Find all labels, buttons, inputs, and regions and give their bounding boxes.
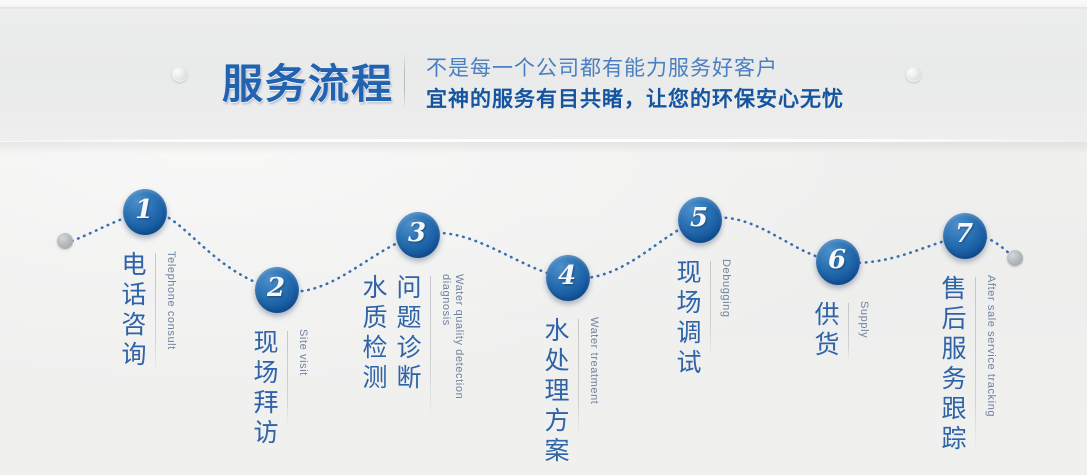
step-label-cn-1: 电话咨询 bbox=[117, 251, 147, 371]
label-divider-3 bbox=[430, 276, 431, 416]
path-end-dot bbox=[1007, 250, 1023, 266]
step-number-badge-7: 7 bbox=[943, 213, 987, 259]
step-label-1: 电话咨询 Telephone consult bbox=[117, 251, 177, 373]
step-label-6: 供货 Supply bbox=[810, 301, 870, 363]
step-label-5: 现场调试 Debugging bbox=[672, 259, 732, 379]
step-label-en-1: Telephone consult bbox=[164, 251, 177, 350]
step-label-en-2: Site visit bbox=[296, 329, 309, 376]
step-number-badge-5: 5 bbox=[678, 197, 722, 243]
screw-icon-left bbox=[172, 67, 187, 82]
path-start-dot bbox=[57, 233, 73, 249]
page-title: 服务流程 bbox=[222, 50, 394, 110]
subtitle-line-1: 不是每一个公司都有能力服务好客户 bbox=[426, 54, 946, 82]
step-number-3: 3 bbox=[408, 218, 426, 248]
title-divider bbox=[404, 52, 405, 110]
step-label-3: 问题诊断 水质检测 Water quality detection diagno… bbox=[358, 274, 465, 416]
label-divider-6 bbox=[848, 303, 849, 363]
step-label-cn-4: 水处理方案 bbox=[540, 317, 570, 467]
step-label-7: 售后服务跟踪 After sale service tracking bbox=[937, 275, 997, 455]
step-label-2: 现场拜访 Site visit bbox=[249, 329, 309, 449]
step-number-badge-2: 2 bbox=[255, 267, 299, 313]
step-label-cn-6: 供货 bbox=[810, 301, 840, 361]
subtitle-line-2: 宜神的服务有目共睹，让您的环保安心无忧 bbox=[426, 84, 946, 114]
page-background: 服务流程 不是每一个公司都有能力服务好客户 宜神的服务有目共睹，让您的环保安心无… bbox=[0, 0, 1087, 475]
step-label-cn-3a: 问题诊断 bbox=[392, 274, 422, 394]
step-label-cn-7: 售后服务跟踪 bbox=[937, 275, 967, 455]
label-divider-2 bbox=[287, 331, 288, 427]
step-number-badge-1: 1 bbox=[123, 189, 167, 235]
step-number-7: 7 bbox=[955, 219, 973, 249]
step-number-badge-3: 3 bbox=[396, 212, 440, 258]
service-flow-diagram: 1 电话咨询 Telephone consult 2 现场拜访 Site vis… bbox=[0, 150, 1087, 475]
step-label-en-3: Water quality detection diagnosis bbox=[439, 274, 465, 414]
step-number-4: 4 bbox=[558, 261, 576, 291]
step-number-5: 5 bbox=[690, 203, 708, 233]
label-divider-1 bbox=[155, 253, 156, 373]
step-label-en-4: Water treatment bbox=[587, 317, 600, 404]
step-label-cn-2: 现场拜访 bbox=[249, 329, 279, 449]
step-label-cn-3b: 水质检测 bbox=[358, 274, 388, 394]
step-label-en-6: Supply bbox=[857, 301, 870, 338]
label-divider-5 bbox=[710, 261, 711, 357]
step-number-badge-6: 6 bbox=[816, 239, 860, 285]
label-divider-7 bbox=[975, 277, 976, 452]
top-strip bbox=[0, 0, 1087, 8]
step-label-4: 水处理方案 Water treatment bbox=[540, 317, 600, 467]
step-label-en-7: After sale service tracking bbox=[984, 275, 997, 417]
step-label-cn-5: 现场调试 bbox=[672, 259, 702, 379]
step-number-1: 1 bbox=[135, 195, 153, 225]
header-subtitle: 不是每一个公司都有能力服务好客户 宜神的服务有目共睹，让您的环保安心无忧 bbox=[426, 54, 946, 114]
label-divider-4 bbox=[578, 319, 579, 439]
step-label-cn-group-3: 问题诊断 水质检测 bbox=[358, 274, 422, 394]
step-number-badge-4: 4 bbox=[546, 255, 590, 301]
step-number-6: 6 bbox=[828, 245, 846, 275]
step-label-en-5: Debugging bbox=[719, 259, 732, 318]
step-number-2: 2 bbox=[267, 273, 285, 303]
